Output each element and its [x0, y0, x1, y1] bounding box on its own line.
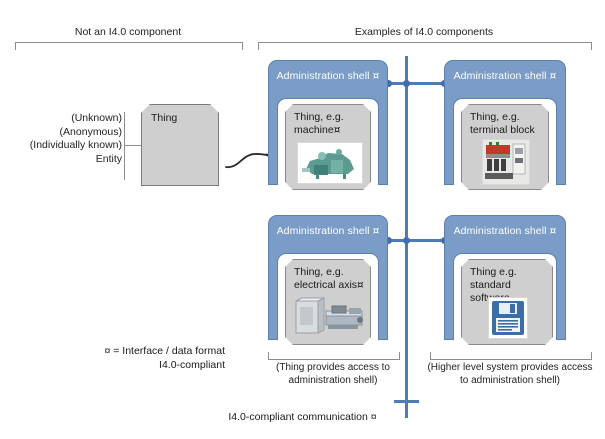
- shell-title-machine: Administration shell ¤: [269, 70, 387, 82]
- interface-glyph-icon: ¤: [550, 70, 557, 82]
- bracket-left: [15, 42, 243, 50]
- thing-card-terminal-block: Thing, e.g. terminal block: [461, 104, 549, 190]
- interface-glyph-icon: ¤: [357, 279, 364, 291]
- caption-right-line-1: (Higher level system provides access: [418, 361, 602, 374]
- legend-line-2: I4.0-compliant: [70, 358, 225, 372]
- caption-right: (Higher level system provides access to …: [418, 361, 602, 387]
- connector-line-upper: [388, 82, 445, 85]
- machine-photo-graphic: [298, 143, 362, 183]
- shell-title-electrical-axis: Administration shell ¤: [269, 225, 387, 237]
- entity-connector-line: [124, 145, 142, 146]
- thing-card-label-terminal-block: Thing, e.g. terminal block: [470, 111, 544, 137]
- diagram-canvas: Not an I4.0 component Examples of I4.0 c…: [0, 0, 605, 439]
- thing-card-label-electrical-axis: Thing, e.g. electrical axis¤: [294, 266, 366, 292]
- legend-block: ¤ = Interface / data format I4.0-complia…: [70, 344, 225, 372]
- floppy-disk-icon: [489, 298, 527, 338]
- interface-glyph-icon: ¤: [373, 225, 380, 237]
- caption-left-line-1: (Thing provides access to: [258, 361, 408, 374]
- entity-label-entity: Entity: [10, 153, 122, 167]
- terminal-block-photo-graphic: [483, 140, 529, 184]
- bracket-bottom-right: [430, 352, 592, 360]
- thing-card-label-machine: Thing, e.g. machine¤: [294, 111, 366, 137]
- header-right-label: Examples of I4.0 components: [258, 26, 590, 38]
- connector-node-lower-center: [403, 237, 410, 244]
- connector-node-upper-center: [403, 80, 410, 87]
- machine-photo: [297, 142, 363, 184]
- terminal-block-photo: [482, 139, 530, 185]
- electrical-axis-photo-graphic: [292, 295, 368, 339]
- bottom-communication-label: I4.0-compliant communication ¤: [0, 411, 605, 423]
- caption-left-line-2: administration shell): [258, 374, 408, 387]
- connector-line-lower: [388, 239, 445, 242]
- legend-line-1: ¤ = Interface / data format: [70, 344, 225, 358]
- interface-glyph-icon: ¤: [550, 225, 557, 237]
- shell-title-terminal-block: Administration shell ¤: [445, 70, 565, 82]
- thing-box: Thing: [141, 104, 219, 186]
- floppy-disk-photo: [488, 297, 528, 339]
- thing-card-standard-software: Thing e.g. standard software: [461, 259, 553, 345]
- caption-left: (Thing provides access to administration…: [258, 361, 408, 387]
- bracket-right: [258, 42, 592, 50]
- thing-card-electrical-axis: Thing, e.g. electrical axis¤: [285, 259, 371, 345]
- bracket-bottom-left: [268, 352, 400, 360]
- electrical-axis-photo: [292, 295, 368, 339]
- entity-label-group: (Unknown) (Anonymous) (Individually know…: [10, 112, 122, 166]
- shell-title-standard-software: Administration shell ¤: [445, 225, 565, 237]
- header-left-label: Not an I4.0 component: [15, 26, 241, 38]
- thing-card-machine: Thing, e.g. machine¤: [285, 104, 371, 190]
- interface-glyph-icon: ¤: [373, 70, 380, 82]
- entity-label-individually-known: (Individually known): [10, 139, 122, 153]
- entity-label-anonymous: (Anonymous): [10, 126, 122, 140]
- caption-right-line-2: to administration shell): [418, 374, 602, 387]
- bus-bottom-foot: [394, 400, 419, 403]
- entity-bracket-vertical: [124, 112, 125, 180]
- entity-label-unknown: (Unknown): [10, 112, 122, 126]
- interface-glyph-icon: ¤: [334, 124, 341, 136]
- thing-box-label: Thing: [151, 112, 177, 124]
